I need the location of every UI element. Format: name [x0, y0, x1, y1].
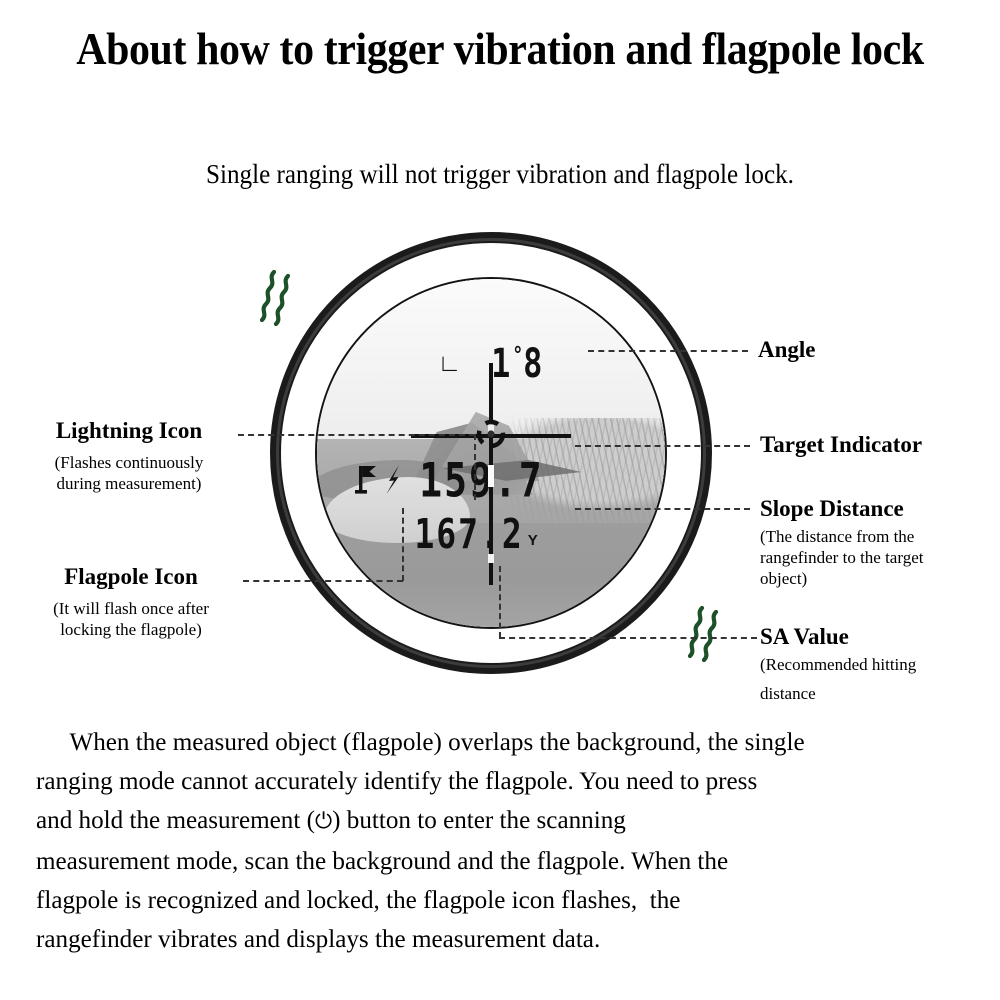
lightning-icon	[383, 465, 403, 495]
flagpole-icon	[355, 465, 381, 495]
body-line-3: and hold the measurement (⏻) button to e…	[36, 800, 952, 841]
document-page: About how to trigger vibration and flagp…	[0, 0, 1000, 1000]
callout-lightning-sub-1: (Flashes continuously	[18, 452, 240, 473]
body-line-5-text: flagpole is recognized and locked, the f…	[36, 885, 680, 914]
status-icon-pair	[355, 465, 403, 495]
angle-icon: ∟	[438, 352, 462, 376]
leader-line-flagpole-vertical	[402, 508, 404, 581]
body-line-3-post: ) button to enter the scanning	[332, 805, 626, 834]
callout-sa-value: SA Value (Recommended hitting distance	[760, 624, 992, 704]
body-line-4-text: measurement mode, scan the background an…	[36, 846, 728, 875]
callout-sa-title: SA Value	[760, 624, 992, 650]
hud-overlay: ∟ 1°8 159.7	[317, 279, 665, 627]
page-subtitle: Single ranging will not trigger vibratio…	[35, 158, 965, 190]
angle-value-2: 8	[523, 339, 544, 387]
leader-line-target	[575, 445, 750, 447]
callout-flagpole: Flagpole Icon (It will flash once after …	[18, 564, 244, 640]
body-line-6: rangefinder vibrates and displays the me…	[36, 919, 952, 958]
sa-value-row: 167.2 Y	[414, 519, 537, 549]
callout-slope-sub-2: rangefinder to the target	[760, 547, 990, 568]
body-paragraph: When the measured object (flagpole) over…	[36, 722, 952, 958]
leader-line-sa-horizontal	[499, 637, 757, 639]
power-button-icon: ⏻	[315, 809, 332, 834]
callout-slope-distance: Slope Distance (The distance from the ra…	[760, 496, 990, 589]
callout-flagpole-sub-1: (It will flash once after	[18, 598, 244, 619]
optical-viewport: ∟ 1°8 159.7	[317, 279, 665, 627]
callout-flagpole-sub-2: locking the flagpole)	[18, 619, 244, 640]
leader-line-sa-vertical	[499, 566, 501, 638]
leader-line-angle	[588, 350, 748, 352]
body-line-2-text: ranging mode cannot accurately identify …	[36, 766, 757, 795]
callout-slope-sub-1: (The distance from the	[760, 526, 990, 547]
slope-distance-row: 159.7	[355, 463, 543, 497]
body-line-1: When the measured object (flagpole) over…	[36, 722, 952, 761]
vibration-waves-icon-left	[248, 268, 304, 330]
body-line-1-text: When the measured object (flagpole) over…	[69, 727, 804, 756]
target-crosshair-icon	[471, 416, 511, 456]
callout-sa-sub-2: distance	[760, 683, 992, 704]
callout-lightning-title: Lightning Icon	[18, 418, 240, 444]
callout-lightning-sub-2: during measurement)	[18, 473, 240, 494]
page-title: About how to trigger vibration and flagp…	[35, 22, 965, 76]
slope-distance-value: 159.7	[419, 459, 543, 502]
callout-target-indicator: Target Indicator	[760, 432, 922, 458]
body-line-2: ranging mode cannot accurately identify …	[36, 761, 952, 800]
callout-slope-title: Slope Distance	[760, 496, 990, 522]
crosshair-vertical	[489, 363, 493, 586]
sa-value: 167.2	[414, 515, 523, 553]
callout-target-title: Target Indicator	[760, 432, 922, 458]
callout-flagpole-title: Flagpole Icon	[18, 564, 244, 590]
callout-lightning: Lightning Icon (Flashes continuously dur…	[18, 418, 240, 494]
callout-angle: Angle	[758, 337, 816, 363]
body-line-6-text: rangefinder vibrates and displays the me…	[36, 924, 600, 953]
angle-readout: 1°8	[491, 337, 544, 382]
body-line-4: measurement mode, scan the background an…	[36, 841, 952, 880]
callout-sa-sub-1: (Recommended hitting	[760, 654, 992, 675]
body-line-5: flagpole is recognized and locked, the f…	[36, 880, 952, 919]
vibration-waves-icon-right	[676, 604, 732, 666]
degree-symbol: °	[512, 342, 523, 368]
rangefinder-viewfinder: ∟ 1°8 159.7	[270, 232, 712, 674]
leader-line-flagpole-horizontal	[243, 580, 403, 582]
sa-unit-label: Y	[528, 532, 538, 549]
angle-value: 1	[491, 339, 512, 387]
leader-line-slope	[575, 508, 750, 510]
body-line-3-pre: and hold the measurement (	[36, 805, 315, 834]
callout-angle-title: Angle	[758, 337, 816, 363]
leader-line-lightning-vertical	[474, 434, 476, 500]
callout-slope-sub-3: object)	[760, 568, 990, 589]
leader-line-lightning-horizontal	[238, 434, 475, 436]
